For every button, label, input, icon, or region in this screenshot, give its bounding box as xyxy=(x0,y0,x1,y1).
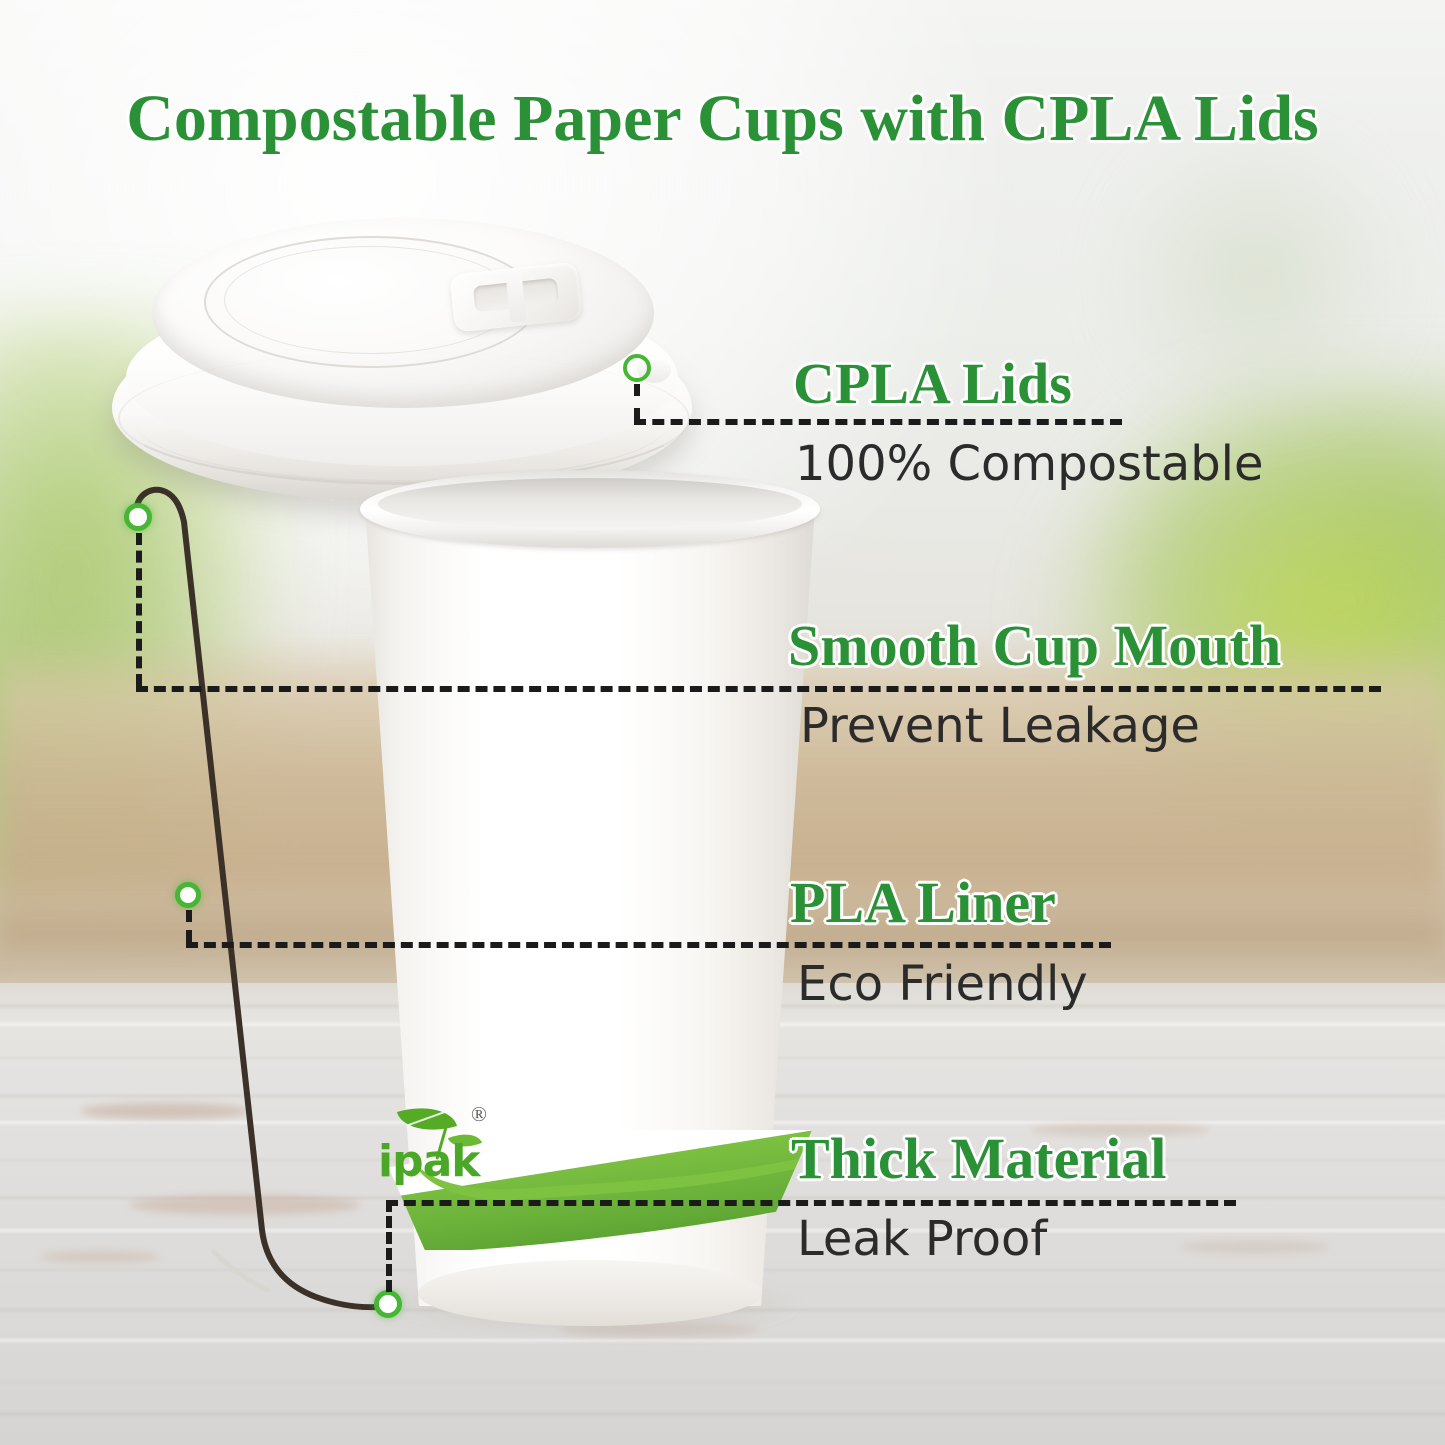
registered-mark: ® xyxy=(471,1102,487,1127)
smooth-cup-mouth-leader-vertical xyxy=(136,533,142,686)
page-title: Compostable Paper Cups with CPLA Lids xyxy=(0,86,1445,152)
cpla-lids-subtitle: 100% Compostable xyxy=(795,440,1264,488)
thick-material-leader-line xyxy=(386,1200,1236,1206)
thick-material-leader-vertical xyxy=(386,1200,392,1292)
cup-base-marker-icon xyxy=(374,1290,402,1318)
blurred-background-object xyxy=(1098,116,1416,434)
cpla-lid xyxy=(112,202,692,502)
smooth-cup-mouth-subtitle: Prevent Leakage xyxy=(800,702,1200,750)
pla-liner-leader-vertical xyxy=(186,910,192,942)
cup-wall-marker-icon xyxy=(175,882,201,908)
thick-material-subtitle: Leak Proof xyxy=(797,1215,1047,1263)
cpla-lids-title: CPLA Lids xyxy=(793,355,1072,413)
pla-liner-subtitle: Eco Friendly xyxy=(797,960,1088,1008)
lid-lip-edge-2 xyxy=(136,364,668,482)
cup-rim-marker-icon xyxy=(124,503,152,531)
infographic-canvas: ipak ® Compostable Paper Cups with CPLA … xyxy=(0,0,1445,1445)
smooth-cup-mouth-title: Smooth Cup Mouth xyxy=(788,617,1281,675)
cpla-lids-leader-vertical xyxy=(634,384,640,420)
cpla-lids-leader-line xyxy=(634,419,1122,425)
brand-logo-text: ipak xyxy=(378,1140,480,1184)
lid-rim-marker-icon xyxy=(623,354,651,382)
smooth-cup-mouth-leader-line xyxy=(136,686,1381,692)
thick-material-title: Thick Material xyxy=(791,1130,1166,1188)
cup-rim-inner xyxy=(378,478,802,530)
brand-logo: ipak ® xyxy=(378,1098,528,1190)
pla-liner-leader-line xyxy=(186,942,1111,948)
cup-bottom xyxy=(418,1260,762,1326)
pla-liner-title: PLA Liner xyxy=(790,874,1056,932)
